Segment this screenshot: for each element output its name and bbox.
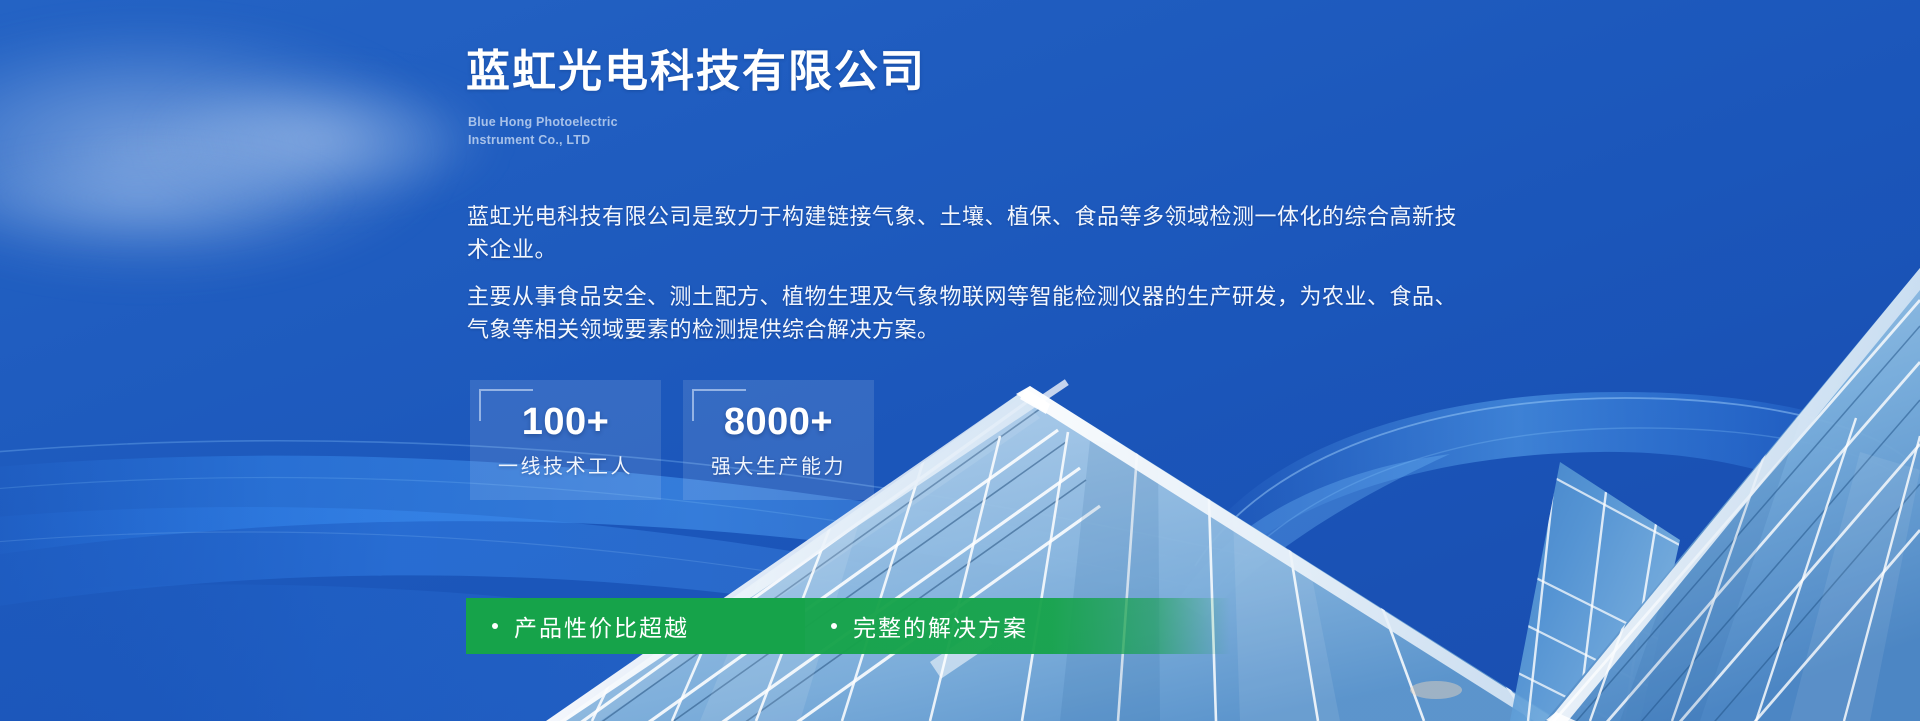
- company-name-cn: 蓝虹光电科技有限公司: [466, 47, 926, 96]
- stat-value: 100+: [522, 403, 610, 441]
- intro-paragraph-1: 蓝虹光电科技有限公司是致力于构建链接气象、土壤、植保、食品等多领域检测一体化的综…: [467, 200, 1457, 267]
- company-hero-banner: 蓝虹光电科技有限公司 Blue Hong Photoelectric Instr…: [0, 0, 1920, 721]
- company-name-en: Blue Hong Photoelectric Instrument Co., …: [468, 113, 618, 149]
- intro-paragraph-2: 主要从事食品安全、测土配方、植物生理及气象物联网等智能检测仪器的生产研发，为农业…: [467, 280, 1457, 347]
- stat-label: 强大生产能力: [711, 457, 846, 477]
- stats-group: 100+ 一线技术工人 8000+ 强大生产能力: [470, 380, 874, 500]
- feature-tags-group: 产品性价比超越 完整的解决方案: [466, 598, 1231, 654]
- feature-tag-value: 产品性价比超越: [466, 598, 805, 654]
- stat-label: 一线技术工人: [498, 457, 633, 477]
- cloud-wisp-left: [0, 0, 520, 290]
- bullet-dot-icon: [492, 623, 498, 629]
- stat-value: 8000+: [724, 403, 833, 441]
- bullet-dot-icon: [831, 623, 837, 629]
- cloud-wisp-lower: [0, 120, 440, 290]
- company-name-en-line1: Blue Hong Photoelectric: [468, 113, 618, 131]
- company-name-en-line2: Instrument Co., LTD: [468, 131, 618, 149]
- feature-tag-label: 产品性价比超越: [514, 609, 689, 643]
- feature-tag-label: 完整的解决方案: [853, 609, 1028, 643]
- stat-card-capacity: 8000+ 强大生产能力: [683, 380, 874, 500]
- banner-content: 蓝虹光电科技有限公司 Blue Hong Photoelectric Instr…: [466, 0, 1566, 721]
- cloud-wisp-upper: [90, 40, 510, 240]
- stat-card-workers: 100+ 一线技术工人: [470, 380, 661, 500]
- feature-tag-solution: 完整的解决方案: [805, 598, 1231, 654]
